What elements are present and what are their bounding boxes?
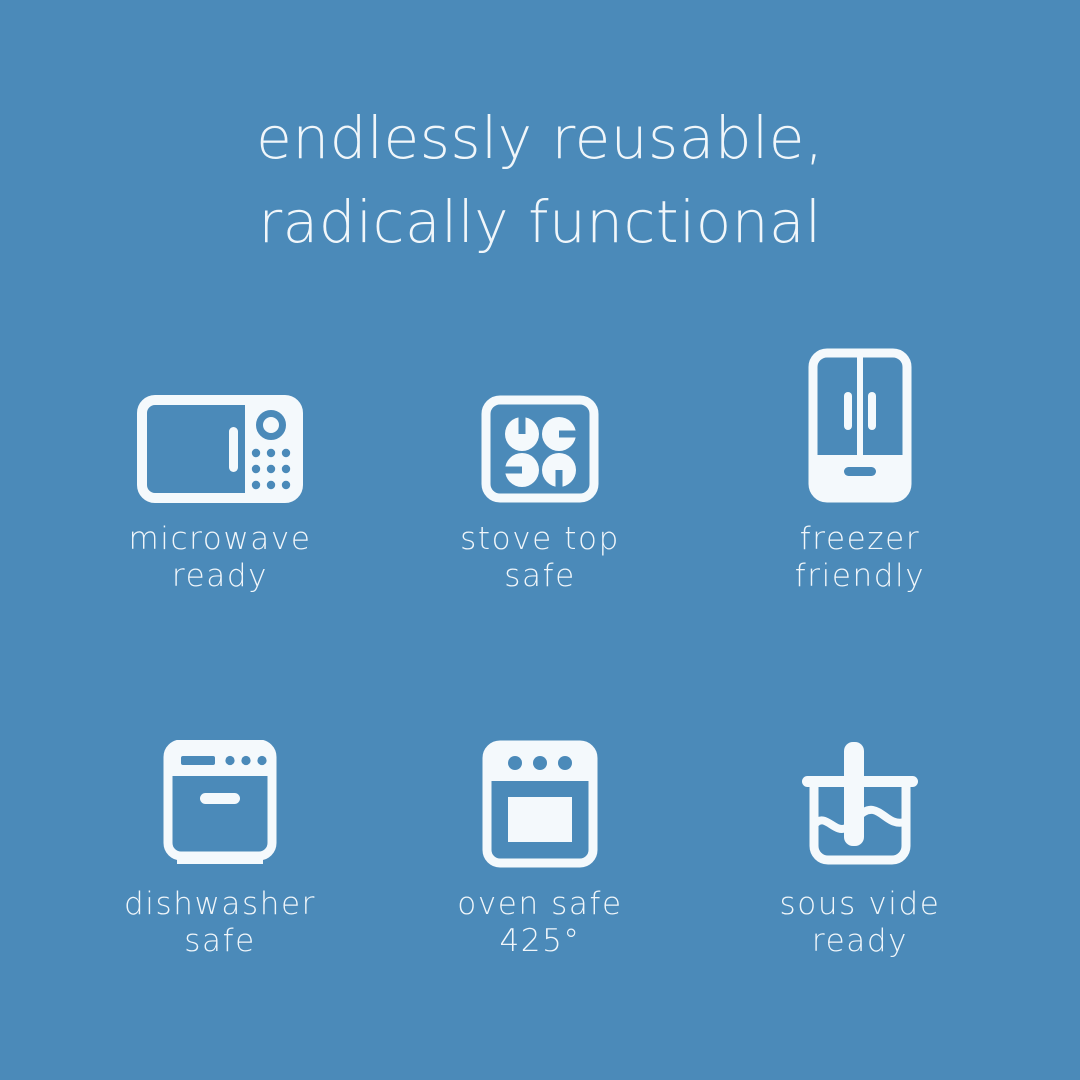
feature-label-line-1: stove top xyxy=(460,521,620,558)
feature-label-line-2: ready xyxy=(780,923,941,960)
feature-label-line-2: safe xyxy=(124,923,316,960)
feature-label-line-1: dishwasher xyxy=(124,886,316,923)
feature-label: microwave ready xyxy=(128,521,311,595)
feature-label: freezer friendly xyxy=(795,521,925,595)
feature-label-line-1: freezer xyxy=(795,521,925,558)
feature-label-line-2: safe xyxy=(460,558,620,595)
headline-line-1: endlessly reusable, xyxy=(0,96,1080,180)
feature-label-line-1: microwave xyxy=(128,521,311,558)
freezer-icon xyxy=(808,330,912,503)
feature-label: oven safe 425° xyxy=(457,886,622,960)
feature-oven: oven safe 425° xyxy=(380,695,700,960)
headline-line-2: radically functional xyxy=(0,180,1080,264)
dishwasher-icon xyxy=(159,695,281,868)
feature-label-line-2: ready xyxy=(128,558,311,595)
feature-label: dishwasher safe xyxy=(124,886,316,960)
oven-icon xyxy=(482,695,598,868)
page-title: endlessly reusable, radically functional xyxy=(0,96,1080,264)
feature-label-line-2: 425° xyxy=(457,923,622,960)
feature-sous-vide: sous vide ready xyxy=(700,695,1020,960)
feature-label-line-1: sous vide xyxy=(780,886,941,923)
sous-vide-icon xyxy=(794,695,926,868)
feature-dishwasher: dishwasher safe xyxy=(60,695,380,960)
feature-label: stove top safe xyxy=(460,521,620,595)
microwave-icon xyxy=(137,330,303,503)
feature-label-line-2: friendly xyxy=(795,558,925,595)
feature-grid: microwave ready xyxy=(60,330,1020,960)
feature-stove-top: stove top safe xyxy=(380,330,700,595)
feature-microwave: microwave ready xyxy=(60,330,380,595)
feature-freezer: freezer friendly xyxy=(700,330,1020,595)
poster-canvas: endlessly reusable, radically functional xyxy=(0,0,1080,1080)
feature-label-line-1: oven safe xyxy=(457,886,622,923)
feature-label: sous vide ready xyxy=(780,886,941,960)
stove-top-icon xyxy=(481,330,599,503)
